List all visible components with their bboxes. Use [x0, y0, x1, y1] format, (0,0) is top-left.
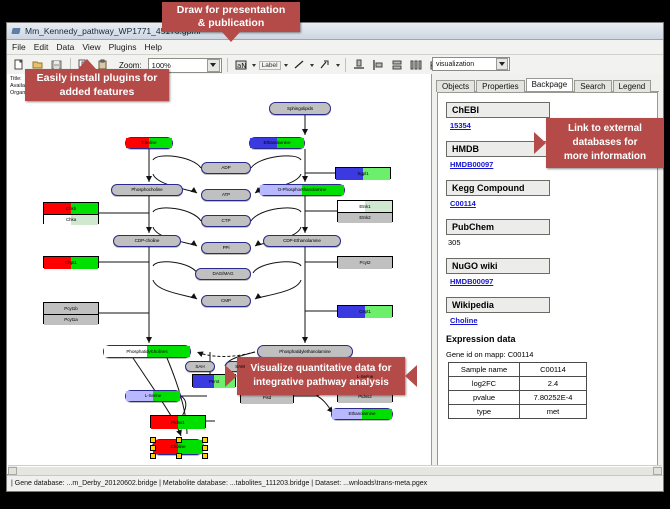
node-label: Sgpl1: [357, 171, 368, 177]
node-label: O-Phosphoethanolamine: [278, 187, 327, 193]
node-label: ATP: [222, 192, 230, 198]
scroll-left-arrow-icon[interactable]: [8, 467, 17, 475]
node-label: Pcyt1b: [64, 306, 77, 312]
metabolite-node[interactable]: L-Serine: [125, 390, 181, 402]
node-label: Chka: [66, 217, 76, 223]
scroll-thumb[interactable]: [17, 466, 653, 475]
node-label: Ethanolamine: [349, 411, 376, 417]
pathway-canvas[interactable]: Title: Availa Organi: [7, 74, 431, 474]
node-label: Cept1: [359, 309, 371, 315]
node-label: PPi: [223, 245, 230, 251]
metabolite-node[interactable]: Phosphatidylcholines: [103, 345, 191, 358]
gene-node-row[interactable]: Cept1: [338, 306, 392, 318]
gene-node-row[interactable]: Pcyt1a: [44, 314, 98, 325]
node-label: Pemt: [209, 379, 219, 385]
metabolite-node[interactable]: ADP: [201, 162, 251, 174]
node-label: Chkb: [66, 206, 76, 212]
table-cell-value: C00114: [520, 363, 587, 377]
metabolite-node[interactable]: SAH: [185, 361, 215, 372]
menu-item-plugins[interactable]: Plugins: [109, 42, 137, 52]
node-label: SAH: [195, 364, 204, 370]
toolbar-separator: [345, 58, 346, 72]
node-label: Pcyt1a: [64, 317, 77, 323]
node-label: Phosphatidylcholines: [126, 349, 167, 355]
gene-node-row[interactable]: Etnk2: [338, 212, 392, 223]
svg-text:aN: aN: [237, 62, 247, 70]
backpage-header-wikipedia: Wikipedia: [446, 297, 550, 313]
node-label: Sphingolipids: [287, 106, 313, 112]
node-label: DAG/MAG: [213, 271, 234, 277]
callout-quant: Visualize quantitative data for integrat…: [237, 357, 405, 395]
metabolite-node[interactable]: Phosphocholine: [111, 184, 183, 196]
node-label: Choline: [142, 140, 157, 146]
selection-handle[interactable]: [176, 453, 182, 459]
chevron-down-icon[interactable]: [284, 64, 288, 67]
horizontal-scrollbar[interactable]: [8, 465, 662, 475]
metabolite-node[interactable]: CDP-Ethanolamine: [263, 235, 341, 247]
metabolite-node[interactable]: CDP-choline: [113, 235, 181, 247]
menu-item-data[interactable]: Data: [56, 42, 74, 52]
metabolite-node[interactable]: Sphingolipids: [269, 102, 331, 115]
selection-handle[interactable]: [202, 445, 208, 451]
node-label: CTP: [222, 218, 231, 224]
gene-node[interactable]: Chpt1: [43, 256, 99, 268]
table-cell-key: log2FC: [449, 377, 520, 391]
visualization-combobox[interactable]: visualization: [432, 57, 510, 71]
tab-objects[interactable]: Objects: [436, 80, 475, 92]
line-icon[interactable]: [291, 57, 307, 73]
visualization-value: visualization: [436, 61, 474, 68]
gene-node-row[interactable]: Chka: [44, 214, 98, 225]
node-label: CMP: [221, 298, 231, 304]
table-row: pvalue 7.80252E-4: [449, 391, 587, 405]
backpage-value-pubchem: 305: [448, 238, 651, 247]
callout-plugins: Easily install plugins for added feature…: [25, 69, 169, 101]
node-label: CDP-choline: [135, 238, 160, 244]
expression-data-table: Sample name C00114 log2FC 2.4 pvalue 7.8…: [448, 362, 587, 419]
selection-handle[interactable]: [176, 437, 182, 443]
app-icon: [11, 26, 21, 36]
callout-databases-line2: databases for: [564, 136, 646, 150]
node-label: Chpt1: [65, 260, 77, 266]
toolbar-separator: [227, 58, 228, 72]
tab-backpage[interactable]: Backpage: [526, 78, 574, 91]
align-bottom-icon[interactable]: [351, 57, 367, 73]
callout-plugins-line2: added features: [37, 85, 158, 99]
gene-node[interactable]: Etnk1Etnk2: [337, 200, 393, 222]
metabolite-node[interactable]: DAG/MAG: [195, 268, 251, 280]
tab-legend[interactable]: Legend: [613, 80, 652, 92]
table-cell-key: Sample name: [449, 363, 520, 377]
table-cell-key: type: [449, 405, 520, 419]
tab-search[interactable]: Search: [574, 80, 611, 92]
metabolite-node[interactable]: PPi: [201, 242, 251, 254]
menu-item-edit[interactable]: Edit: [34, 42, 49, 52]
datanode-icon[interactable]: aN: [233, 57, 249, 73]
metabolite-node[interactable]: Ethanolamine: [249, 137, 305, 149]
backpage-header-kegg: Kegg Compound: [446, 180, 550, 196]
tab-properties[interactable]: Properties: [476, 80, 524, 92]
chevron-down-icon[interactable]: [252, 64, 256, 67]
gene-node[interactable]: Cept1: [337, 305, 393, 317]
scroll-right-arrow-icon[interactable]: [653, 467, 662, 475]
node-label: Pcyt2: [360, 260, 371, 266]
gene-node-row[interactable]: Pcyt2: [338, 257, 392, 269]
node-label: Phosphocholine: [131, 187, 162, 193]
callout-plugins-pointer: [78, 59, 96, 69]
backpage-header-nugowiki: NuGO wiki: [446, 258, 550, 274]
metabolite-node[interactable]: CTP: [201, 215, 251, 227]
callout-databases-pointer: [534, 132, 546, 154]
table-row: type met: [449, 405, 587, 419]
stack-icon[interactable]: [389, 57, 405, 73]
callout-databases-line1: Link to external: [564, 122, 646, 136]
table-cell-key: pvalue: [449, 391, 520, 405]
callout-databases: Link to external databases for more info…: [546, 118, 664, 168]
status-bar-text: | Gene database: ...m_Derby_20120602.bri…: [11, 480, 427, 487]
node-label: Choline: [171, 444, 186, 450]
gene-node[interactable]: Pcyt2: [337, 256, 393, 268]
selection-handle[interactable]: [150, 437, 156, 443]
node-label: CDP-Ethanolamine: [283, 238, 321, 244]
node-label: L-Serine: [357, 374, 374, 380]
node-label: Ptdss2: [358, 394, 371, 400]
callout-quant-pointer-right: [405, 365, 417, 387]
metabolite-node[interactable]: ATP: [201, 189, 251, 201]
selection-handle[interactable]: [150, 453, 156, 459]
gene-node-row[interactable]: Chkb: [44, 203, 98, 214]
metabolite-node[interactable]: Choline: [125, 137, 173, 149]
gene-node[interactable]: Sgpl1: [335, 167, 391, 179]
node-label: Phosphatidylethanolamine: [279, 349, 331, 355]
callout-draw-pointer: [222, 32, 240, 42]
node-label: ADP: [221, 165, 230, 171]
menu-item-help[interactable]: Help: [145, 42, 162, 52]
gene-node-row[interactable]: Etnk1: [338, 201, 392, 212]
align-left-icon[interactable]: [370, 57, 386, 73]
node-label: Ethanolamine: [264, 140, 291, 146]
callout-draw-line1: Draw for presentation: [177, 4, 286, 17]
distribute-icon[interactable]: [408, 57, 424, 73]
chevron-down-icon[interactable]: [496, 58, 508, 70]
table-cell-value: met: [520, 405, 587, 419]
node-label: Ptdss1: [171, 420, 184, 426]
gene-node-row[interactable]: Chpt1: [44, 257, 98, 269]
node-label: Etnk2: [359, 215, 370, 221]
metabolite-node[interactable]: Ethanolamine: [331, 408, 393, 420]
gene-node[interactable]: ChkbChka: [43, 202, 99, 224]
gene-node-row[interactable]: Ptdss1: [151, 416, 205, 429]
callout-draw: Draw for presentation & publication: [162, 2, 300, 32]
backpage-header-pubchem: PubChem: [446, 219, 550, 235]
side-panel-tabs: Objects Properties Backpage Search Legen…: [436, 77, 659, 92]
interaction-icon[interactable]: [317, 57, 333, 73]
chevron-down-icon[interactable]: [207, 59, 220, 72]
gene-node-row[interactable]: Sgpl1: [336, 168, 390, 180]
node-label: Etnk1: [359, 204, 370, 210]
gene-node[interactable]: Pcyt1bPcyt1a: [43, 302, 99, 324]
screenshot-root: Mm_Kennedy_pathway_WP1771_45176.gpml Fil…: [0, 0, 670, 509]
table-cell-value: 7.80252E-4: [520, 391, 587, 405]
callout-plugins-line1: Easily install plugins for: [37, 71, 158, 85]
selection-handle[interactable]: [150, 445, 156, 451]
gene-id-line: Gene id on mapp: C00114: [446, 350, 651, 359]
menu-item-view[interactable]: View: [82, 42, 100, 52]
table-cell-value: 2.4: [520, 377, 587, 391]
backpage-link-wikipedia[interactable]: Choline: [450, 316, 651, 325]
chevron-down-icon[interactable]: [336, 64, 340, 67]
chevron-down-icon[interactable]: [310, 64, 314, 67]
window-titlebar: Mm_Kennedy_pathway_WP1771_45176.gpml: [7, 23, 663, 40]
node-label: L-Serine: [145, 393, 162, 399]
backpage-link-kegg[interactable]: C00114: [450, 199, 651, 208]
callout-draw-line2: & publication: [177, 17, 286, 30]
selection-handle[interactable]: [202, 453, 208, 459]
selection-handle[interactable]: [202, 437, 208, 443]
menu-item-file[interactable]: File: [12, 42, 26, 52]
menu-bar: File Edit Data View Plugins Help: [7, 40, 663, 55]
metabolite-node[interactable]: O-Phosphoethanolamine: [259, 184, 345, 196]
status-bar: | Gene database: ...m_Derby_20120602.bri…: [7, 475, 663, 491]
backpage-header-chebi: ChEBI: [446, 102, 550, 118]
node-label: Pisd: [263, 395, 272, 401]
label-button[interactable]: Label: [259, 61, 281, 70]
callout-databases-line3: more information: [564, 150, 646, 164]
table-row: Sample name C00114: [449, 363, 587, 377]
expression-data-title: Expression data: [446, 334, 651, 344]
node-label: SAM: [235, 364, 245, 370]
gene-node[interactable]: Ptdss1: [150, 415, 206, 428]
gene-node-row[interactable]: Pcyt1b: [44, 303, 98, 314]
metabolite-node[interactable]: CMP: [201, 295, 251, 307]
pathway-canvas-pane[interactable]: Title: Availa Organi: [7, 74, 432, 475]
backpage-link-nugowiki[interactable]: HMDB00097: [450, 277, 651, 286]
table-row: log2FC 2.4: [449, 377, 587, 391]
